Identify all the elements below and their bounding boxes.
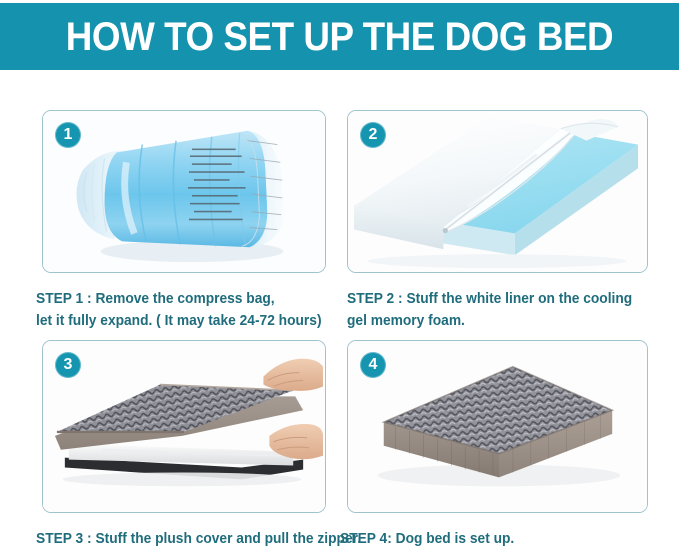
caption-line: gel memory foam. — [347, 310, 632, 332]
step-2-photo — [348, 111, 647, 272]
step-1-caption: STEP 1 : Remove the compress bag, let it… — [36, 288, 322, 332]
step-panel-4: 4 — [347, 340, 648, 513]
step-panel-3: 3 — [42, 340, 326, 513]
caption-line: STEP 2 : Stuff the white liner on the co… — [347, 288, 632, 310]
step-badge-3: 3 — [55, 352, 81, 378]
step-2-caption: STEP 2 : Stuff the white liner on the co… — [347, 288, 632, 332]
caption-line: STEP 3 : Stuff the plush cover and pull … — [36, 528, 361, 550]
step-4-caption: STEP 4: Dog bed is set up. — [340, 528, 514, 550]
step-badge-4: 4 — [360, 352, 386, 378]
step-badge-1: 1 — [55, 122, 81, 148]
step-panel-2: 2 — [347, 110, 648, 273]
step-4-photo — [348, 341, 647, 512]
step-3-photo — [43, 341, 325, 512]
step-1-photo — [43, 111, 325, 272]
caption-line: STEP 1 : Remove the compress bag, — [36, 288, 322, 310]
caption-line: let it fully expand. ( It may take 24-72… — [36, 310, 322, 332]
step-panel-1: 1 — [42, 110, 326, 273]
caption-line: STEP 4: Dog bed is set up. — [340, 528, 514, 550]
page-title: HOW TO SET UP THE DOG BED — [66, 17, 613, 57]
step-badge-2: 2 — [360, 122, 386, 148]
step-3-caption: STEP 3 : Stuff the plush cover and pull … — [36, 528, 361, 550]
header-banner: HOW TO SET UP THE DOG BED — [0, 3, 679, 70]
